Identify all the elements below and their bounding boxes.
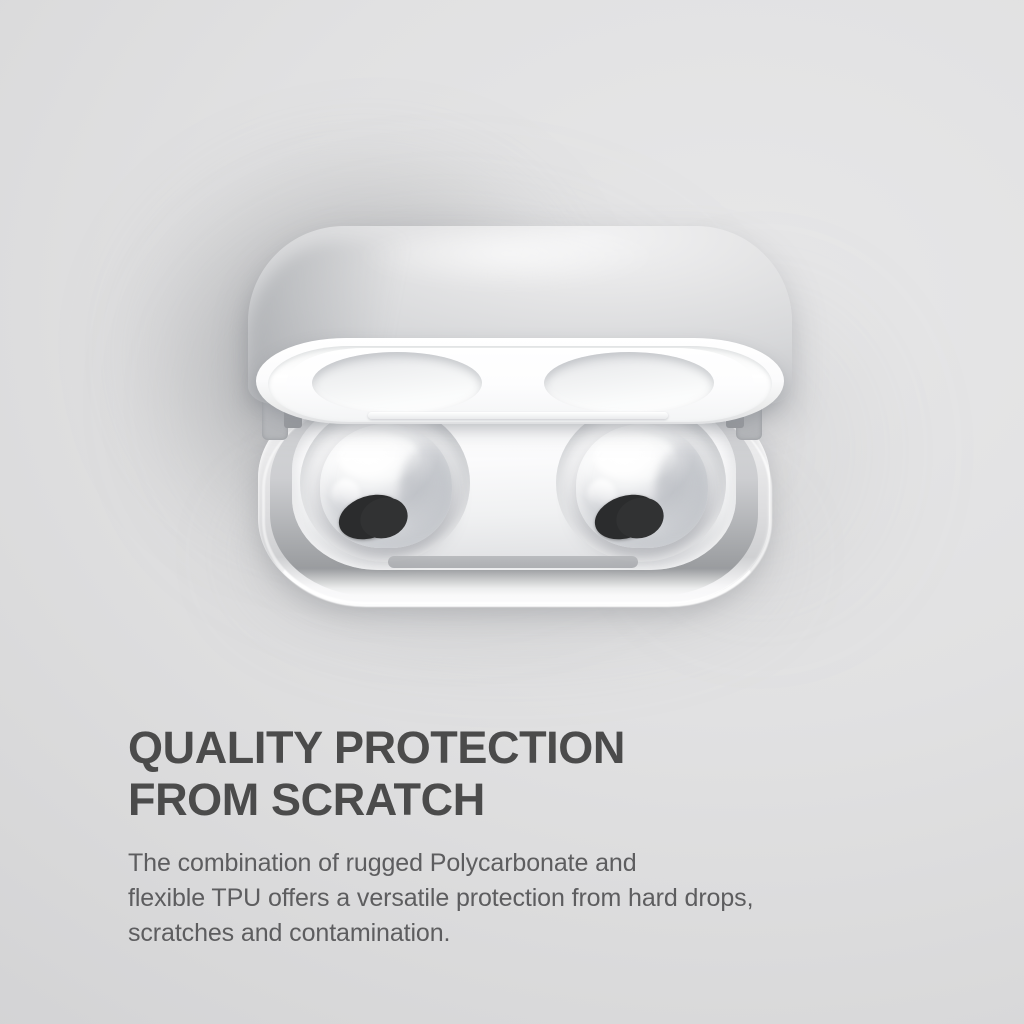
airpods-case-product-image: [0, 0, 1024, 680]
marketing-text-block: QUALITY PROTECTION FROM SCRATCH The comb…: [128, 722, 928, 951]
lid-cavity-left: [312, 352, 482, 414]
earbud-left-shading: [399, 446, 452, 538]
earbud-right: [576, 424, 708, 548]
case-base-lip: [388, 556, 638, 568]
earbud-right-shading: [655, 446, 708, 538]
product-marketing-image: QUALITY PROTECTION FROM SCRATCH The comb…: [0, 0, 1024, 1024]
body-copy: The combination of rugged Polycarbonate …: [128, 846, 928, 951]
case-lid-top-sheen: [330, 232, 690, 304]
lid-hinge-line: [368, 412, 668, 419]
earbud-left: [320, 424, 452, 548]
lid-cavity-right: [544, 352, 714, 414]
headline: QUALITY PROTECTION FROM SCRATCH: [128, 722, 928, 826]
